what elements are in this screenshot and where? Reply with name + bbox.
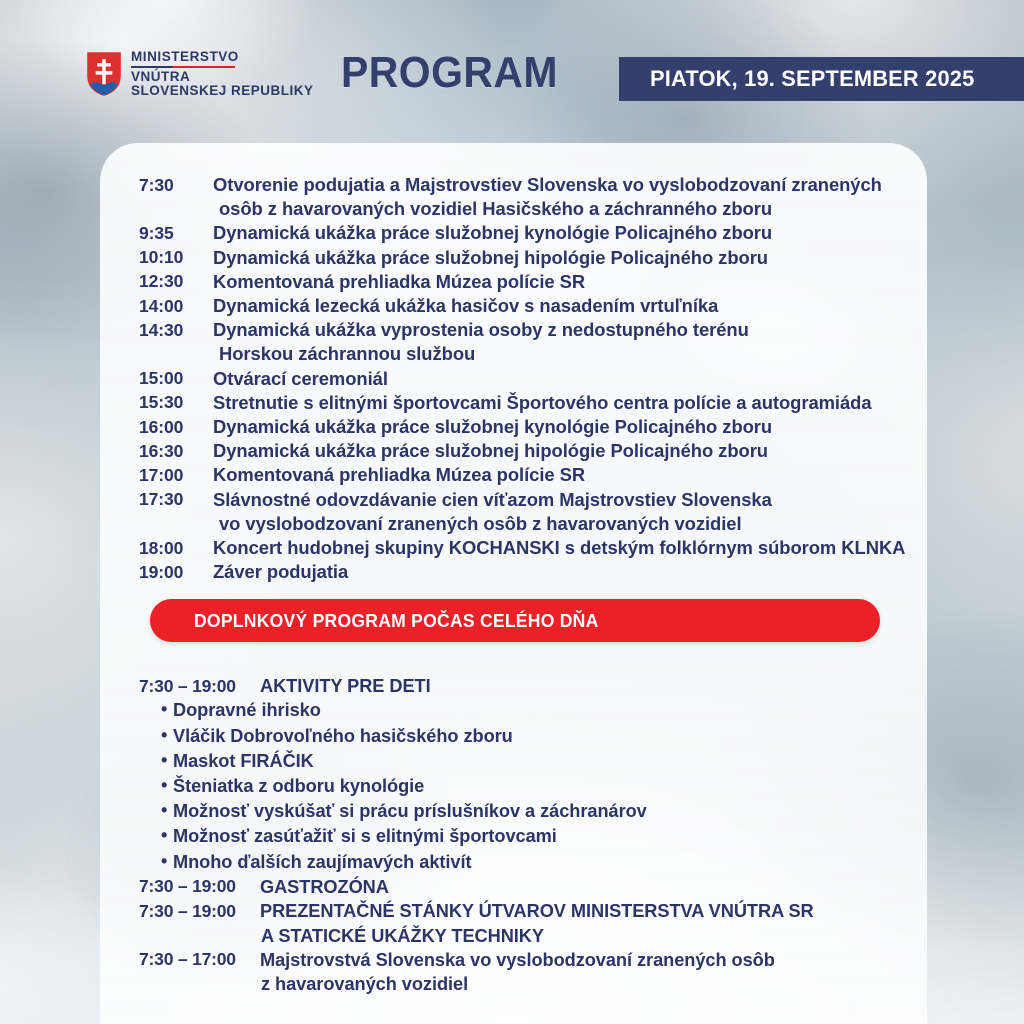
schedule-row-description-line2: vo vyslobodzovaní zranených osôb z havar… [213,512,772,536]
date-badge: PIATOK, 19. SEPTEMBER 2025 [619,57,1024,101]
logo-line-3: SLOVENSKEJ REPUBLIKY [131,84,314,98]
schedule-row-time: 17:00 [139,463,213,487]
logo-line-2: VNÚTRA [131,70,314,84]
list-item: Dopravné ihrisko [139,698,939,723]
extras-row: 7:30 – 19:00PREZENTAČNÉ STÁNKY ÚTVAROV M… [139,899,939,948]
schedule-row-description: Komentovaná prehliadka Múzea polície SR [213,270,585,294]
schedule-row-time: 14:00 [139,294,213,318]
extras-row-description-line2: A STATICKÉ UKÁŽKY TECHNIKY [260,924,814,948]
extras-children-time: 7:30 – 19:00 [139,674,260,698]
schedule-row: 15:30Stretnutie s elitnými športovcami Š… [139,391,939,415]
schedule-row: 19:00Záver podujatia [139,560,939,584]
schedule-row-description: Záver podujatia [213,560,348,584]
schedule-row: 7:30Otvorenie podujatia a Majstrovstiev … [139,173,939,221]
ministry-logo-text: MINISTERSTVO VNÚTRA SLOVENSKEJ REPUBLIKY [131,50,314,98]
schedule-row: 12:30Komentovaná prehliadka Múzea políci… [139,270,939,294]
schedule-row-description-line1: Dynamická ukážka práce služobnej kynológ… [213,416,772,437]
schedule-row-description: Dynamická ukážka práce služobnej hipológ… [213,246,768,270]
ministry-logo: MINISTERSTVO VNÚTRA SLOVENSKEJ REPUBLIKY [86,50,314,98]
schedule-row-description-line1: Koncert hudobnej skupiny KOCHANSKI s det… [213,537,905,558]
schedule-row-description-line1: Slávnostné odovzdávanie cien víťazom Maj… [213,489,772,510]
schedule-row-description-line1: Stretnutie s elitnými športovcami Športo… [213,392,872,413]
extras-row-time: 7:30 – 17:00 [139,948,260,972]
schedule-row-description-line1: Dynamická ukážka práce služobnej hipológ… [213,247,768,268]
schedule-row-description: Dynamická ukážka práce služobnej hipológ… [213,439,768,463]
extras-row: 7:30 – 19:00GASTROZÓNA [139,875,939,899]
schedule-row-time: 15:00 [139,367,213,391]
schedule-list: 7:30Otvorenie podujatia a Majstrovstiev … [139,173,939,584]
date-badge-label: PIATOK, 19. SEPTEMBER 2025 [650,66,974,92]
schedule-row: 16:00Dynamická ukážka práce služobnej ky… [139,415,939,439]
schedule-row-description: Dynamická ukážka práce služobnej kynológ… [213,221,772,245]
schedule-row-time: 19:00 [139,560,213,584]
extras-row-description-line1: Majstrovstvá Slovenska vo vyslobodzovaní… [260,950,775,970]
slovak-coat-of-arms-icon [86,51,122,97]
extras-row-description-line1: PREZENTAČNÉ STÁNKY ÚTVAROV MINISTERSTVA … [260,901,814,921]
schedule-row-description-line2: Horskou záchrannou službou [213,342,749,366]
schedule-row-description-line1: Dynamická ukážka vyprostenia osoby z ned… [213,319,749,340]
extras-row: 7:30 – 17:00Majstrovstvá Slovenska vo vy… [139,948,939,997]
schedule-row-description: Otvorenie podujatia a Majstrovstiev Slov… [213,173,882,221]
list-item: Mnoho ďalších zaujímavých aktivít [139,850,939,875]
schedule-row: 17:30Slávnostné odovzdávanie cien víťazo… [139,488,939,536]
schedule-row: 16:30Dynamická ukážka práce služobnej hi… [139,439,939,463]
extras-children-bullet-list: Dopravné ihriskoVláčik Dobrovoľného hasi… [139,698,939,874]
schedule-row-description: Otvárací ceremoniál [213,367,388,391]
schedule-row-description-line1: Dynamická ukážka práce služobnej kynológ… [213,222,772,243]
list-item: Šteniatka z odboru kynológie [139,774,939,799]
extras-row-description: Majstrovstvá Slovenska vo vyslobodzovaní… [260,948,775,997]
schedule-row: 10:10Dynamická ukážka práce služobnej hi… [139,246,939,270]
extras-row-time: 7:30 – 19:00 [139,875,260,899]
extras-row-description-line1: GASTROZÓNA [260,877,389,897]
logo-divider-rule [131,66,235,68]
schedule-row-description: Dynamická ukážka vyprostenia osoby z ned… [213,318,749,366]
schedule-row-time: 16:30 [139,439,213,463]
extra-program-banner-label: DOPLNKOVÝ PROGRAM POČAS CELÉHO DŇA [194,610,599,632]
extras-children-row: 7:30 – 19:00AKTIVITY PRE DETI [139,674,939,698]
logo-line-1: MINISTERSTVO [131,50,314,64]
list-item: Možnosť zasúťažiť si s elitnými športovc… [139,824,939,849]
schedule-row-time: 7:30 [139,173,213,197]
schedule-row-description-line1: Otvárací ceremoniál [213,368,388,389]
list-item: Vláčik Dobrovoľného hasičského zboru [139,724,939,749]
schedule-row-description: Slávnostné odovzdávanie cien víťazom Maj… [213,488,772,536]
schedule-row-time: 14:30 [139,318,213,342]
schedule-row-description: Dynamická ukážka práce služobnej kynológ… [213,415,772,439]
extras-row-description: GASTROZÓNA [260,875,389,899]
schedule-row: 18:00Koncert hudobnej skupiny KOCHANSKI … [139,536,939,560]
page-header: MINISTERSTVO VNÚTRA SLOVENSKEJ REPUBLIKY… [0,0,1024,140]
schedule-row-description-line1: Záver podujatia [213,561,348,582]
schedule-row-time: 18:00 [139,536,213,560]
extras-row-description-line2: z havarovaných vozidiel [260,972,775,996]
extras-row-description: PREZENTAČNÉ STÁNKY ÚTVAROV MINISTERSTVA … [260,899,814,948]
schedule-row-description-line1: Komentovaná prehliadka Múzea polície SR [213,271,585,292]
schedule-row: 17:00Komentovaná prehliadka Múzea políci… [139,463,939,487]
schedule-row-time: 15:30 [139,391,213,415]
schedule-row-time: 9:35 [139,221,213,245]
schedule-row-description-line2: osôb z havarovaných vozidiel Hasičského … [213,197,882,221]
schedule-row-description: Komentovaná prehliadka Múzea polície SR [213,463,585,487]
schedule-row: 15:00Otvárací ceremoniál [139,367,939,391]
page-title: PROGRAM [341,48,558,98]
schedule-row-description: Dynamická lezecká ukážka hasičov s nasad… [213,294,718,318]
extras-children-title: AKTIVITY PRE DETI [260,674,431,698]
schedule-row-description-line1: Otvorenie podujatia a Majstrovstiev Slov… [213,174,882,195]
list-item: Možnosť vyskúšať si prácu príslušníkov a… [139,799,939,824]
schedule-row-time: 17:30 [139,488,213,512]
extras-row-time: 7:30 – 19:00 [139,899,260,923]
schedule-row-time: 10:10 [139,246,213,270]
schedule-row-description: Stretnutie s elitnými športovcami Športo… [213,391,872,415]
schedule-row-description: Koncert hudobnej skupiny KOCHANSKI s det… [213,536,905,560]
extra-program-banner: DOPLNKOVÝ PROGRAM POČAS CELÉHO DŇA [150,599,880,642]
list-item: Maskot FIRÁČIK [139,749,939,774]
schedule-row-time: 12:30 [139,270,213,294]
schedule-row: 14:00Dynamická lezecká ukážka hasičov s … [139,294,939,318]
schedule-row: 14:30Dynamická ukážka vyprostenia osoby … [139,318,939,366]
schedule-row-time: 16:00 [139,415,213,439]
schedule-row-description-line1: Dynamická lezecká ukážka hasičov s nasad… [213,295,718,316]
schedule-row: 9:35Dynamická ukážka práce služobnej kyn… [139,221,939,245]
schedule-row-description-line1: Dynamická ukážka práce služobnej hipológ… [213,440,768,461]
schedule-row-description-line1: Komentovaná prehliadka Múzea polície SR [213,464,585,485]
extras-list: 7:30 – 19:00AKTIVITY PRE DETIDopravné ih… [139,674,939,997]
